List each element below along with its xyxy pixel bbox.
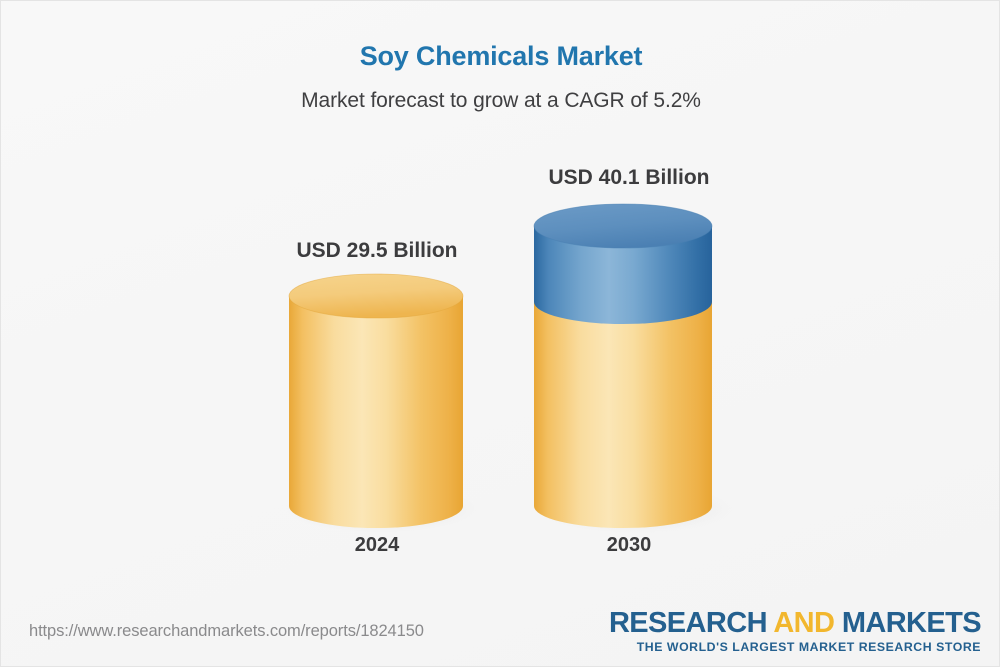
category-label-2030: 2030 <box>529 534 729 557</box>
category-label-2024: 2024 <box>277 534 477 557</box>
logo-word-markets: MARKETS <box>842 607 981 639</box>
value-label-2030: USD 40.1 Billion <box>529 166 729 190</box>
logo-word-and: AND <box>773 607 834 639</box>
logo-wordmark: RESEARCH AND MARKETS <box>609 608 981 638</box>
logo-tagline: THE WORLD'S LARGEST MARKET RESEARCH STOR… <box>609 640 981 654</box>
bar-2024 <box>286 274 478 533</box>
research-and-markets-logo: RESEARCH AND MARKETS THE WORLD'S LARGEST… <box>609 608 981 654</box>
value-label-2024: USD 29.5 Billion <box>277 239 477 263</box>
cylinder-bars <box>1 1 1000 601</box>
bar-2030-base-segment <box>534 302 712 528</box>
logo-word-research: RESEARCH <box>609 607 767 639</box>
bar-2030 <box>534 204 732 533</box>
plot-area: USD 29.5 Billion USD 40.1 Billion 2024 2… <box>1 1 1000 601</box>
source-url[interactable]: https://www.researchandmarkets.com/repor… <box>29 622 424 641</box>
chart-canvas: Soy Chemicals Market Market forecast to … <box>0 0 1000 667</box>
bar-2024-body <box>289 296 463 528</box>
footer: https://www.researchandmarkets.com/repor… <box>1 600 1000 666</box>
